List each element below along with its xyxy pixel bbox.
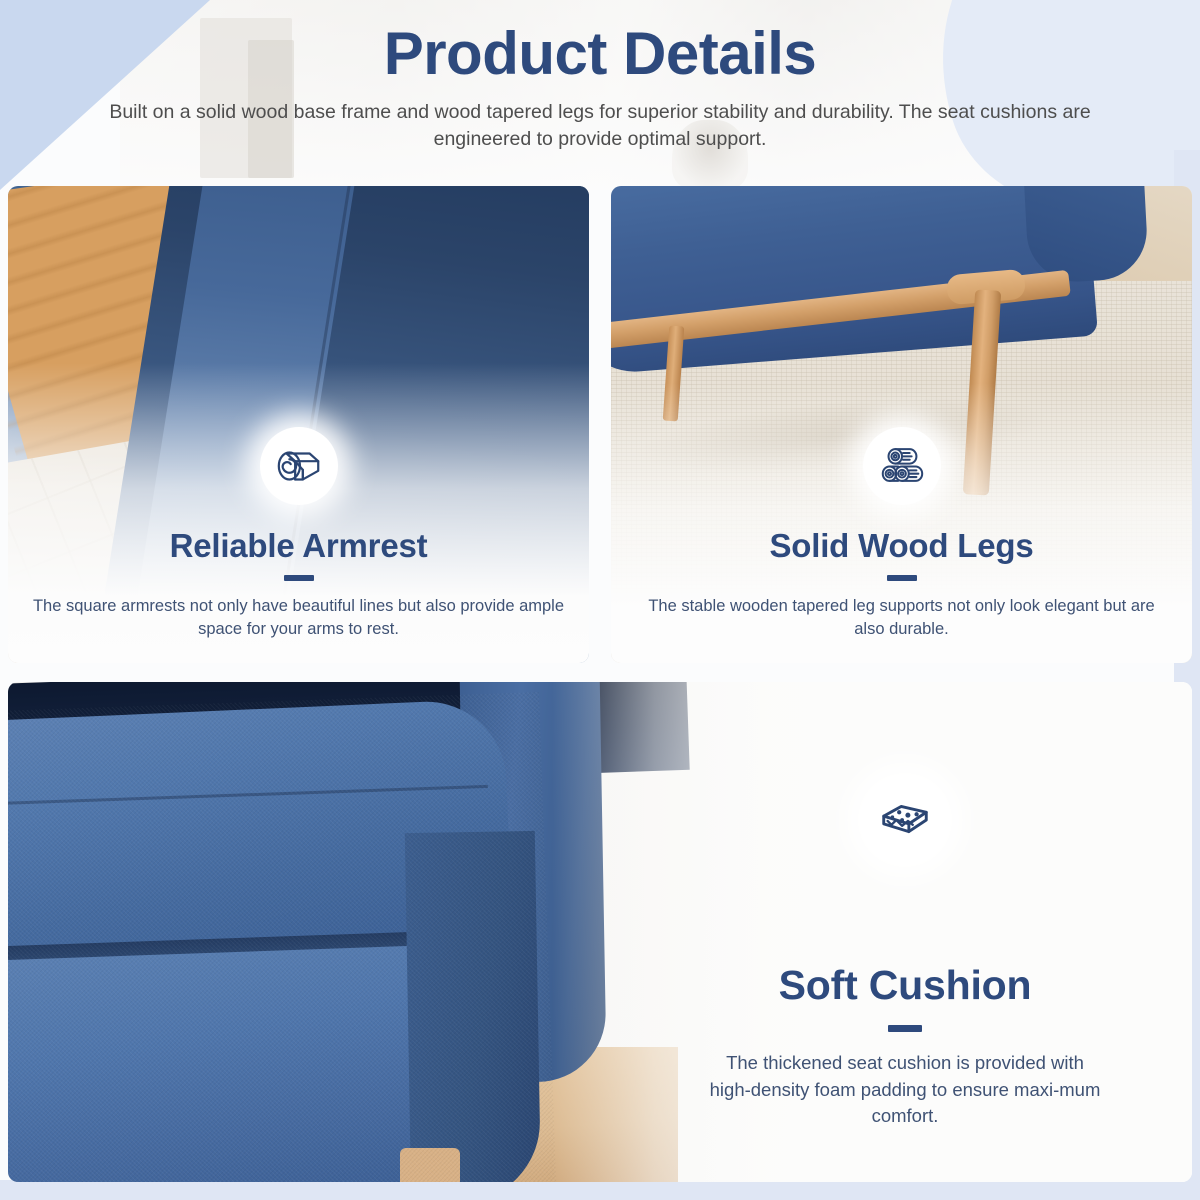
title-divider — [888, 1025, 922, 1032]
card-title: Solid Wood Legs — [611, 527, 1192, 565]
fabric-texture — [8, 692, 557, 1182]
title-divider — [887, 575, 917, 581]
card-title: Soft Cushion — [670, 962, 1140, 1009]
page-title: Product Details — [0, 22, 1200, 87]
fabric-roll-icon — [260, 427, 338, 505]
feature-card-grid: Reliable Armrest The square armrests not… — [8, 186, 1192, 1182]
feature-card-solid-wood-legs[interactable]: Solid Wood Legs The stable wooden tapere… — [611, 186, 1192, 663]
stacked-logs-icon — [863, 427, 941, 505]
cushion-overlay-content: Soft Cushion The thickened seat cushion … — [670, 774, 1140, 1130]
page-subtitle: Built on a solid wood base frame and woo… — [95, 99, 1105, 154]
foam-block-icon — [859, 774, 951, 866]
armrest-overlay-content: Reliable Armrest The square armrests not… — [8, 427, 589, 641]
card-title: Reliable Armrest — [8, 527, 589, 565]
wood-legs-overlay-content: Solid Wood Legs The stable wooden tapere… — [611, 427, 1192, 641]
feature-card-soft-cushion[interactable]: Soft Cushion The thickened seat cushion … — [8, 682, 1192, 1182]
card-description: The square armrests not only have beauti… — [29, 595, 569, 641]
feature-card-reliable-armrest[interactable]: Reliable Armrest The square armrests not… — [8, 186, 589, 663]
card-description: The stable wooden tapered leg supports n… — [632, 595, 1172, 641]
decor-band-bottom — [0, 1180, 1200, 1200]
card-description: The thickened seat cushion is provided w… — [705, 1050, 1105, 1130]
page-header: Product Details Built on a solid wood ba… — [0, 0, 1200, 180]
feature-card-row-top: Reliable Armrest The square armrests not… — [8, 186, 1192, 663]
title-divider — [284, 575, 314, 581]
